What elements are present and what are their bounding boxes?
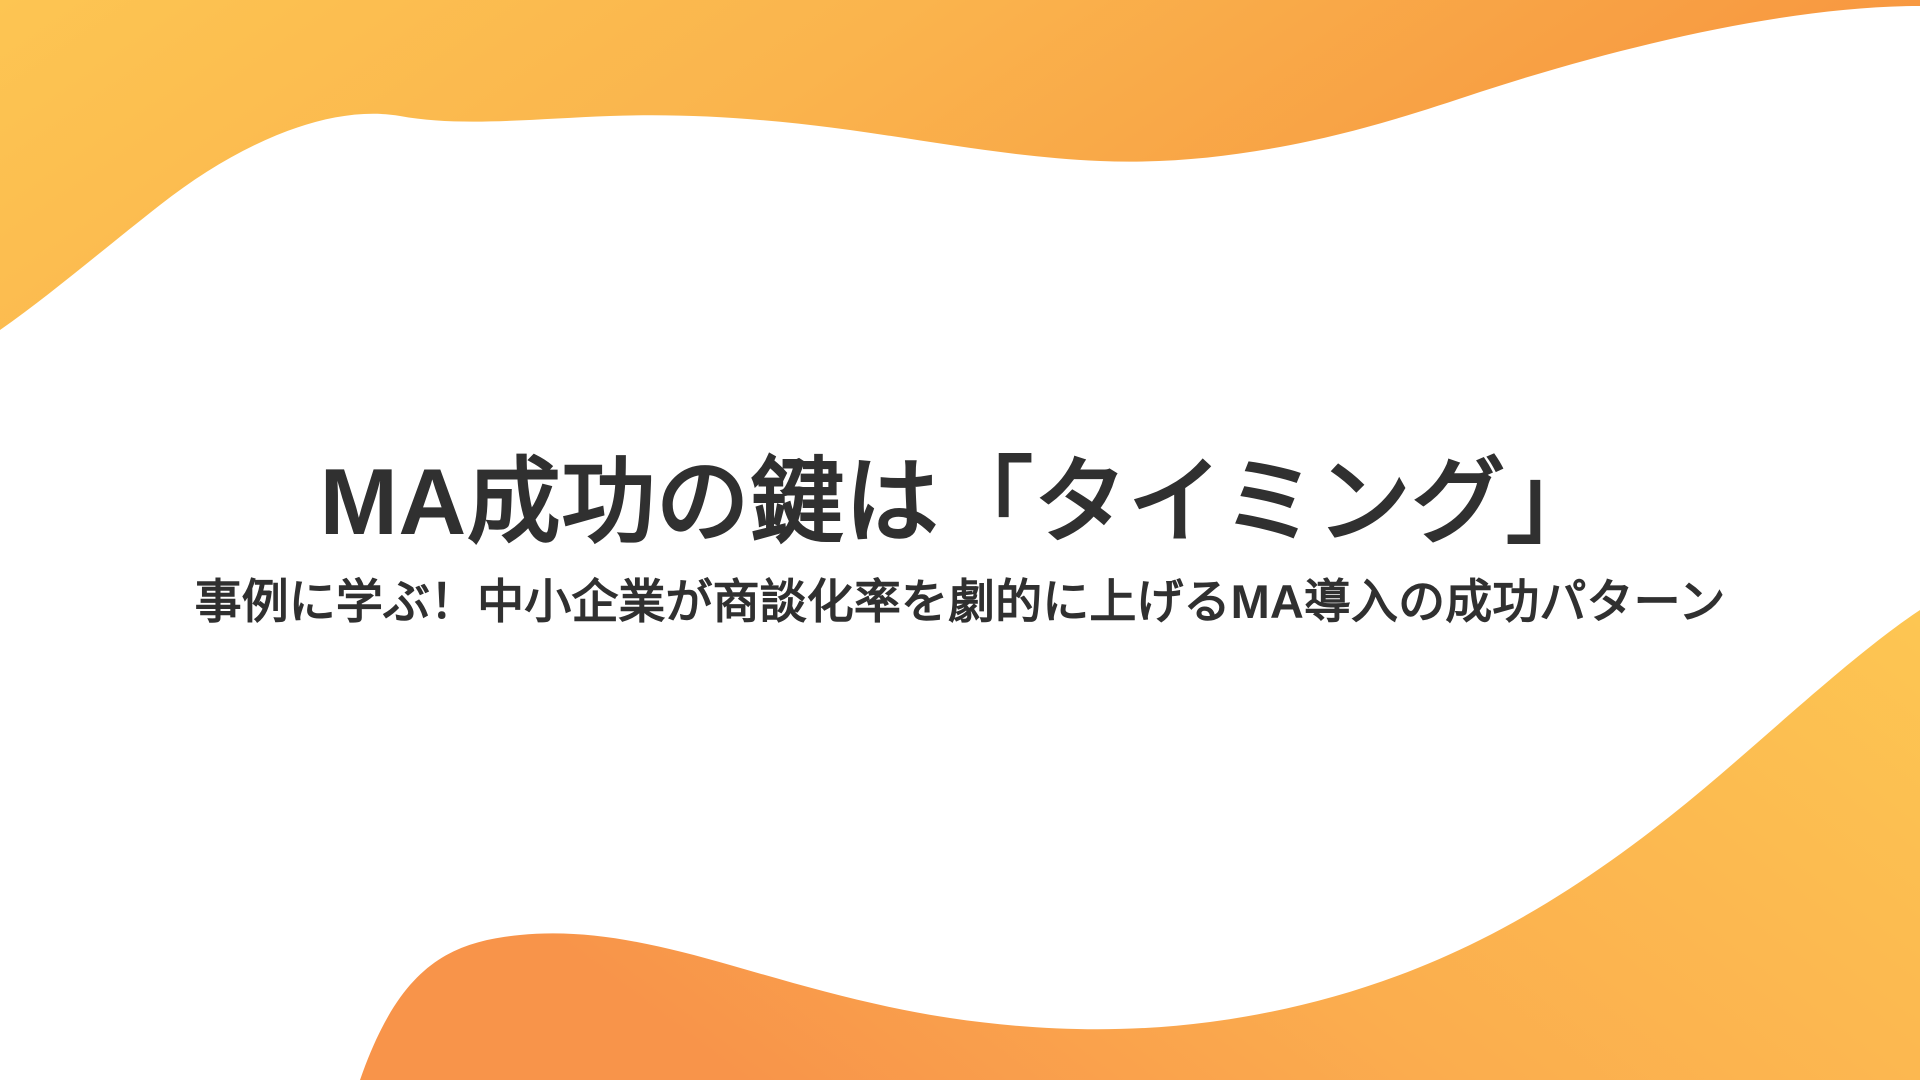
title-slide: MA成功の鍵は「タイミング」 事例に学ぶ！中小企業が商談化率を劇的に上げるMA導… (0, 0, 1920, 1080)
page-title: MA成功の鍵は「タイミング」 (320, 448, 1601, 556)
slide-content: MA成功の鍵は「タイミング」 事例に学ぶ！中小企業が商談化率を劇的に上げるMA導… (0, 0, 1920, 1080)
page-subtitle: 事例に学ぶ！中小企業が商談化率を劇的に上げるMA導入の成功パターン (195, 571, 1726, 632)
